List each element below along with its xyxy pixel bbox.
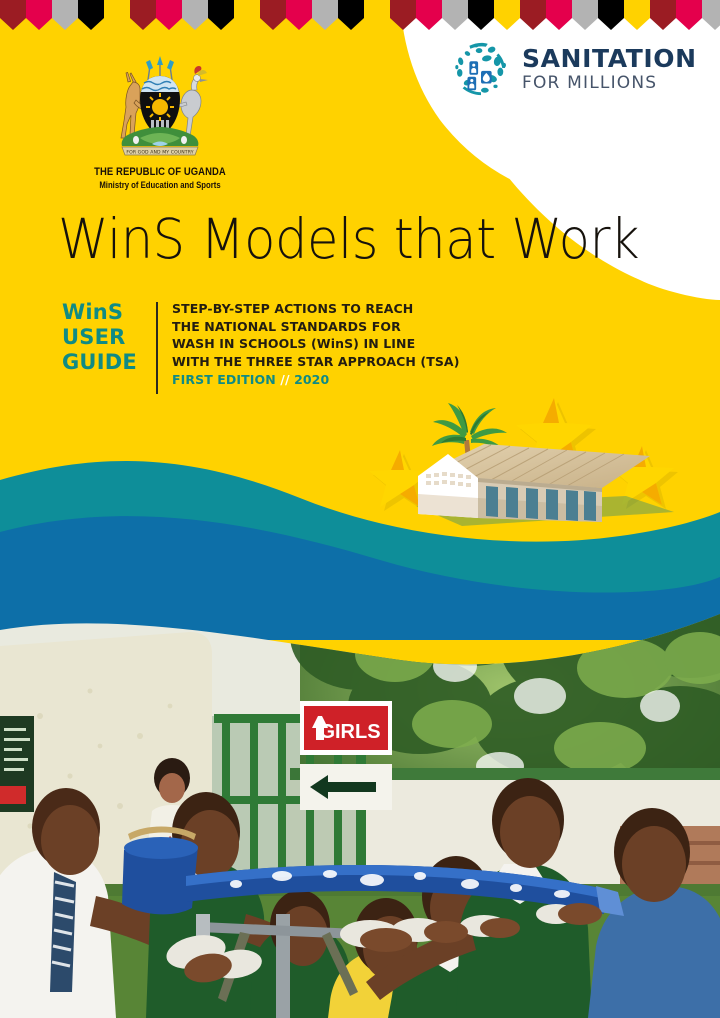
subtitle-line-2: THE NATIONAL STANDARDS FOR: [172, 318, 492, 336]
chevron-tooth: [442, 0, 468, 30]
svg-text:FOR GOD AND MY COUNTRY: FOR GOD AND MY COUNTRY: [126, 150, 193, 156]
svg-text:GIRLS: GIRLS: [319, 721, 380, 743]
ministry-label: Ministry of Education and Sports: [91, 180, 229, 190]
chevron-tooth: [624, 0, 650, 30]
chevron-tooth: [182, 0, 208, 30]
chevron-tooth: [156, 0, 182, 30]
chevron-tooth: [520, 0, 546, 30]
cover-photo: GIRLS: [0, 596, 720, 1018]
chevron-tooth: [208, 0, 234, 30]
chevron-pattern-band: [0, 0, 720, 30]
edition-label: FIRST EDITION: [172, 372, 276, 387]
chevron-tooth: [416, 0, 442, 30]
guide-label-line-2: USER: [62, 325, 150, 350]
subtitle-line-4: WITH THE THREE STAR APPROACH (TSA): [172, 353, 492, 371]
chevron-tooth: [286, 0, 312, 30]
guide-label-line-1: WinS: [62, 300, 150, 325]
chevron-tooth: [0, 0, 26, 30]
subtitle-line-1: STEP-BY-STEP ACTIONS TO REACH: [172, 300, 492, 318]
guide-label: WinS USER GUIDE: [62, 300, 150, 396]
uganda-coat-of-arms-icon: FOR GOD AND MY COUNTRY: [100, 52, 220, 164]
subtitle-line-3: WASH IN SCHOOLS (WinS) IN LINE: [172, 335, 492, 353]
chevron-tooth: [26, 0, 52, 30]
emblem-block: FOR GOD AND MY COUNTRY THE REPUBLIC OF U…: [80, 52, 240, 192]
arrow-sign: [300, 764, 392, 810]
chevron-tooth: [572, 0, 598, 30]
chevron-tooth: [494, 0, 520, 30]
chevron-tooth: [390, 0, 416, 30]
chevron-tooth: [676, 0, 702, 30]
chevron-tooth: [338, 0, 364, 30]
chevron-tooth: [104, 0, 130, 30]
chevron-tooth: [260, 0, 286, 30]
chevron-tooth: [78, 0, 104, 30]
chevron-tooth: [702, 0, 720, 30]
chevron-tooth: [650, 0, 676, 30]
chevron-tooth: [52, 0, 78, 30]
globe-dots-icon: [452, 40, 510, 98]
chevron-tooth: [234, 0, 260, 30]
chevron-tooth: [130, 0, 156, 30]
girls-sign: GIRLS: [300, 701, 392, 755]
partner-logo-title: SANITATION: [522, 46, 697, 71]
page-title: WinS Models that Work: [58, 212, 653, 267]
partner-logo-subtitle: FOR MILLIONS: [522, 75, 697, 92]
guide-label-line-3: GUIDE: [62, 350, 150, 375]
cover-page: FOR GOD AND MY COUNTRY THE REPUBLIC OF U…: [0, 0, 720, 1018]
chevron-tooth: [468, 0, 494, 30]
edition-year: 2020: [294, 372, 329, 387]
motto-ribbon: FOR GOD AND MY COUNTRY: [122, 147, 198, 156]
chevron-tooth: [598, 0, 624, 30]
country-label: THE REPUBLIC OF UGANDA: [91, 166, 229, 178]
chevron-tooth: [546, 0, 572, 30]
edition-separator: //: [280, 372, 289, 387]
partner-logo: SANITATION FOR MILLIONS: [452, 38, 682, 100]
vertical-divider: [156, 302, 158, 394]
children-handwashing-photo: GIRLS: [0, 596, 720, 1018]
chevron-tooth: [312, 0, 338, 30]
chevron-tooth: [364, 0, 390, 30]
